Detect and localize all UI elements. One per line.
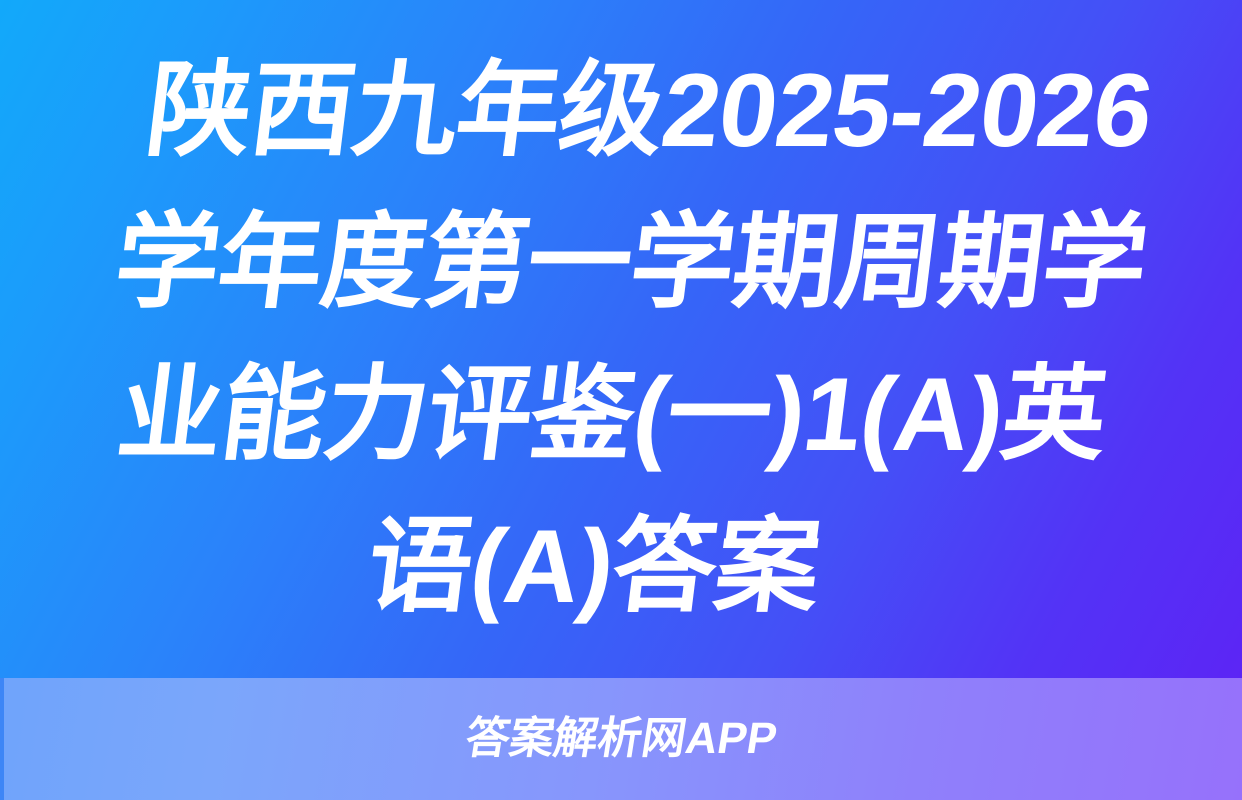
poster-screen: 陕西九年级2025-2026学年度第一学期周期学业能力评鉴(一)1(A)英语(A… <box>0 0 1242 800</box>
page-title: 陕西九年级2025-2026学年度第一学期周期学业能力评鉴(一)1(A)英语(A… <box>51 35 1191 643</box>
brand-label: 答案解析网APP <box>462 715 780 763</box>
hero-banner: 陕西九年级2025-2026学年度第一学期周期学业能力评鉴(一)1(A)英语(A… <box>0 0 1242 678</box>
footer-brand-band: 答案解析网APP <box>0 678 1242 800</box>
